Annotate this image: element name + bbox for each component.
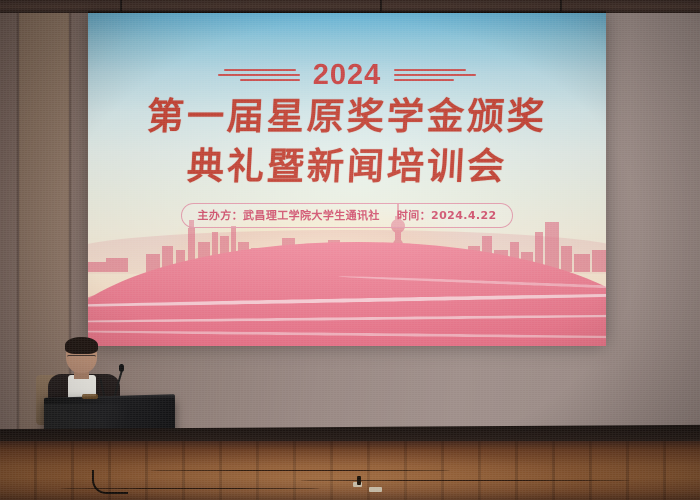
lectern-object <box>82 394 98 399</box>
slide-content: 2024 第一届星原奖学金颁奖 典礼暨新闻培训会 主办方：武昌理工学院大学生通讯… <box>88 13 606 346</box>
floor-cable <box>300 480 630 481</box>
presenter-hair <box>65 337 98 354</box>
slide-organizer: 主办方：武昌理工学院大学生通讯社 <box>197 207 379 223</box>
floor-marker <box>357 476 361 485</box>
floor-cable <box>150 470 450 471</box>
photo-scene: 2024 第一届星原奖学金颁奖 典礼暨新闻培训会 主办方：武昌理工学院大学生通讯… <box>0 0 700 500</box>
slide-year: 2024 <box>313 61 382 90</box>
year-row: 2024 <box>218 60 477 90</box>
decorative-lines-right-icon <box>394 69 476 81</box>
floor-marker <box>369 487 382 492</box>
glasses-icon <box>67 355 96 360</box>
slide-title-line-2: 典礼暨新闻培训会 <box>186 147 508 186</box>
microphone-icon <box>119 364 124 372</box>
lectern-cable <box>92 470 128 494</box>
slide-datetime: 时间：2024.4.22 <box>397 207 497 223</box>
slide-title-line-1: 第一届星原奖学金颁奖 <box>146 97 548 136</box>
projection-screen: 2024 第一届星原奖学金颁奖 典礼暨新闻培训会 主办方：武昌理工学院大学生通讯… <box>88 13 606 346</box>
wall-seam <box>17 0 19 430</box>
decorative-lines-left-icon <box>218 69 300 81</box>
slide-info-pill: 主办方：武昌理工学院大学生通讯社 时间：2024.4.22 <box>181 203 512 228</box>
